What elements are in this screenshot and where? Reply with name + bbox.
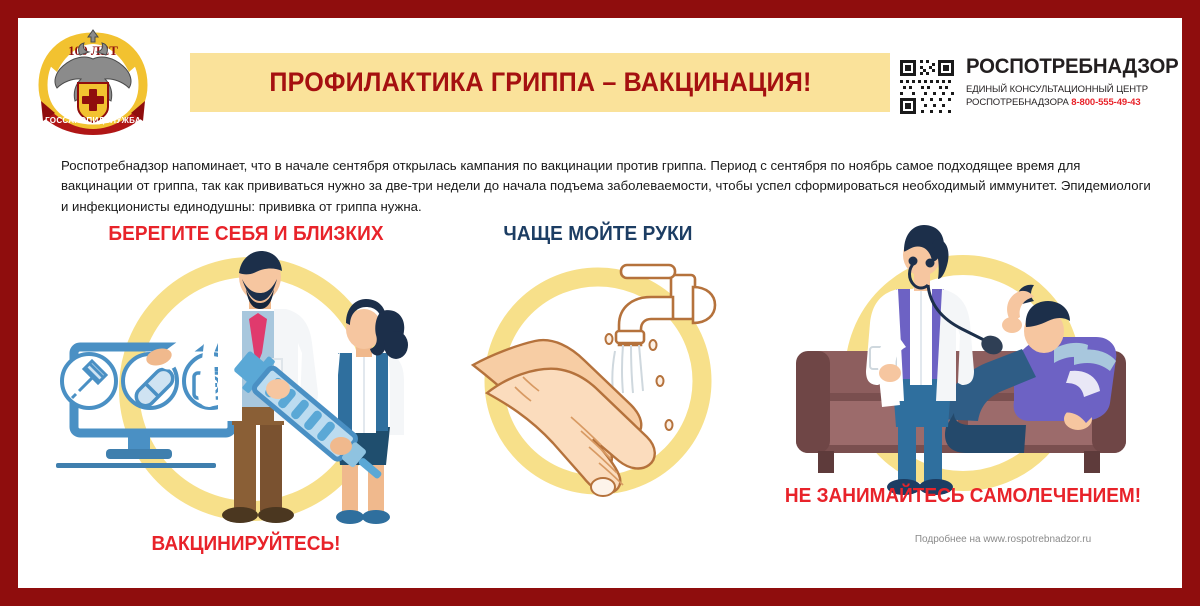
panel-vaccination-caption: ВАКЦИНИРУЙТЕСЬ!	[56, 533, 436, 556]
panel-vaccination: БЕРЕГИТЕ СЕБЯ И БЛИЗКИХ	[46, 223, 446, 568]
contact-block: РОСПОТРЕБНАДЗОР ЕДИНЫЙ КОНСУЛЬТАЦИОННЫЙ …	[898, 56, 1173, 136]
consultation-center-line1: ЕДИНЫЙ КОНСУЛЬТАЦИОННЫЙ ЦЕНТР	[966, 84, 1176, 97]
emblem-top-text: 100 ЛЕТ	[68, 43, 118, 58]
title-banner: ПРОФИЛАКТИКА ГРИППА – ВАКЦИНАЦИЯ!	[190, 53, 890, 112]
panel-handwashing-heading: ЧАЩЕ МОЙТЕ РУКИ	[465, 223, 731, 246]
panel-no-self-medication-caption: НЕ ЗАНИМАЙТЕСЬ САМОЛЕЧЕНИЕМ!	[768, 485, 1158, 508]
panel-no-self-medication: НЕ ЗАНИМАЙТЕСЬ САМОЛЕЧЕНИЕМ!	[758, 223, 1168, 568]
panel-handwashing: ЧАЩЕ МОЙТЕ РУКИ	[458, 223, 738, 568]
consultation-center-line2: РОСПОТРЕБНАДЗОРА 8-800-555-49-43	[966, 97, 1176, 110]
emblem-ribbon-text: ГОССАНЭПИДСЛУЖБА	[45, 116, 141, 125]
qr-code-icon	[898, 58, 956, 116]
page-title: ПРОФИЛАКТИКА ГРИППА – ВАКЦИНАЦИЯ!	[269, 67, 811, 98]
nurse-figure	[324, 299, 408, 524]
source-note: Подробнее на www.rospotrebnadzor.ru	[838, 534, 1168, 545]
poster-sheet: 100 ЛЕТ ГОССАНЭПИДСЛУЖБА	[18, 18, 1182, 588]
thumb-nail	[591, 478, 615, 496]
contact-text: РОСПОТРЕБНАДЗОР ЕДИНЫЙ КОНСУЛЬТАЦИОННЫЙ …	[966, 56, 1176, 110]
intro-paragraph: Роспотребнадзор напоминает, что в начале…	[61, 156, 1151, 217]
rospotrebnadzor-emblem-icon: 100 ЛЕТ ГОССАНЭПИДСЛУЖБА	[33, 25, 153, 135]
water-stream	[612, 345, 643, 393]
poster-header: 100 ЛЕТ ГОССАНЭПИДСЛУЖБА	[18, 18, 1182, 138]
handwashing-under-tap-illustration	[453, 259, 743, 514]
doctor-examining-patient-illustration	[778, 223, 1138, 513]
hotline-phone: 8-800-555-49-43	[1071, 97, 1140, 108]
poster-frame: 100 ЛЕТ ГОССАНЭПИДСЛУЖБА	[0, 0, 1200, 606]
panel-vaccination-heading: БЕРЕГИТЕ СЕБЯ И БЛИЗКИХ	[56, 223, 436, 246]
doctor-nurse-syringe-illustration	[46, 249, 446, 544]
organization-name: РОСПОТРЕБНАДЗОР	[966, 56, 1170, 77]
